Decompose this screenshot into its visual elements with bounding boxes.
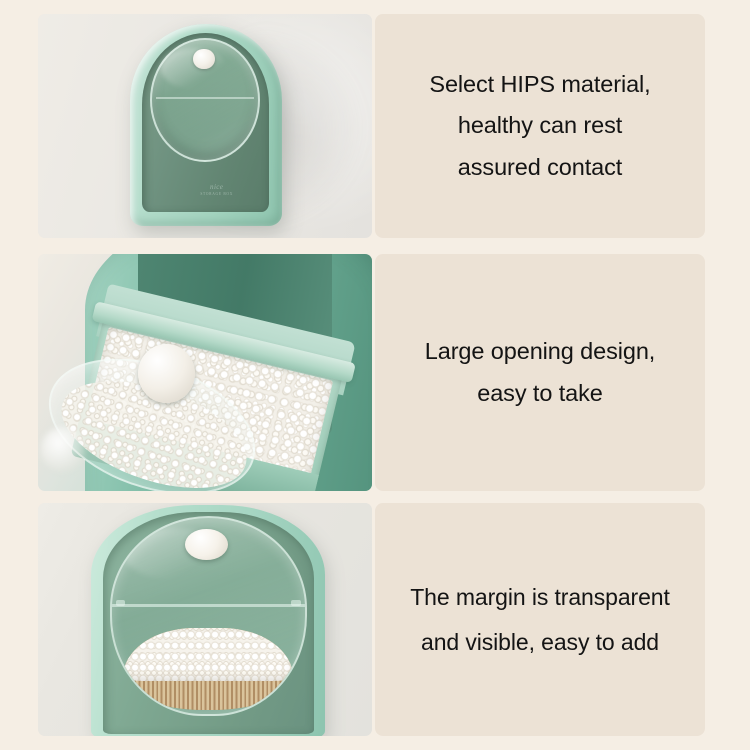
caption-line: assured contact <box>458 156 622 180</box>
brand-script: nice <box>210 183 223 191</box>
caption-line: Large opening design, <box>425 340 655 364</box>
feature-row-hips-material: nice STORAGE BOX Select HIPS material, h… <box>0 14 750 238</box>
product-photo-hips-material: nice STORAGE BOX <box>38 14 372 238</box>
caption-panel-transparent-margin: The margin is transparent and visible, e… <box>375 503 705 736</box>
caption-panel-hips-material: Select HIPS material, healthy can rest a… <box>375 14 705 238</box>
caption-line: Select HIPS material, <box>429 73 650 97</box>
product-photo-transparent-margin <box>38 503 372 736</box>
window-inner-ledge <box>156 97 254 99</box>
caption-panel-large-opening: Large opening design, easy to take <box>375 254 705 491</box>
caption-line: healthy can rest <box>458 114 622 138</box>
caption-line: The margin is transparent <box>410 586 670 609</box>
lid-knob <box>185 529 228 560</box>
brand-subtitle: STORAGE BOX <box>188 192 245 196</box>
window-inner-ledge <box>112 604 305 607</box>
foreground-bokeh <box>41 427 84 472</box>
swab-cotton-tips <box>123 628 293 681</box>
lid-hinge-clip-right <box>291 600 301 606</box>
caption-line: and visible, easy to add <box>421 631 659 654</box>
lid-hinge-clip-left <box>116 600 126 606</box>
lid-knob <box>138 344 195 403</box>
cotton-swab-bundle <box>123 628 293 710</box>
lid-knob <box>193 49 214 70</box>
product-photo-large-opening <box>38 254 372 491</box>
feature-row-transparent-margin: The margin is transparent and visible, e… <box>0 503 750 736</box>
caption-line: easy to take <box>477 382 603 406</box>
feature-row-large-opening: Large opening design, easy to take <box>0 254 750 491</box>
product-feature-infographic: nice STORAGE BOX Select HIPS material, h… <box>0 0 750 750</box>
brand-logo: nice STORAGE BOX <box>188 183 245 196</box>
